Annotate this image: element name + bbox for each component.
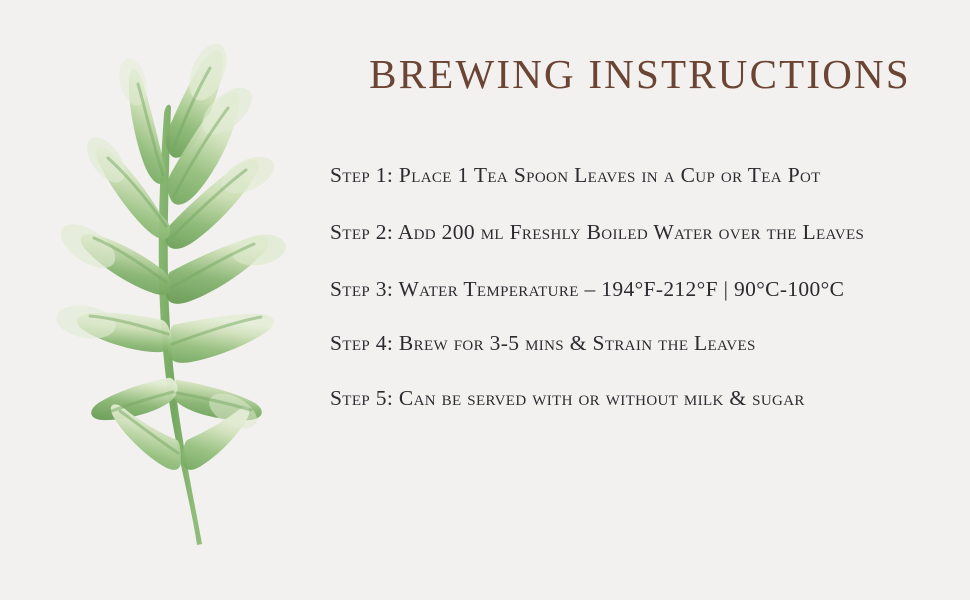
page-title: BREWING INSTRUCTIONS — [328, 50, 952, 98]
step-item-5: Step 5: Can be served with or without mi… — [330, 382, 950, 415]
brewing-instructions-card: BREWING INSTRUCTIONS Step 1: Place 1 Tea… — [0, 0, 970, 600]
steps-list: Step 1: Place 1 Tea Spoon Leaves in a Cu… — [330, 137, 950, 415]
step-item-1: Step 1: Place 1 Tea Spoon Leaves in a Cu… — [330, 159, 950, 192]
step-item-3: Step 3: Water Temperature – 194°F-212°F … — [330, 273, 950, 306]
botanical-branch-illustration — [20, 10, 340, 590]
step-item-2: Step 2: Add 200 ml Freshly Boiled Water … — [330, 216, 950, 249]
text-column: BREWING INSTRUCTIONS Step 1: Place 1 Tea… — [328, 0, 952, 600]
step-item-4: Step 4: Brew for 3-5 mins & Strain the L… — [330, 327, 950, 360]
